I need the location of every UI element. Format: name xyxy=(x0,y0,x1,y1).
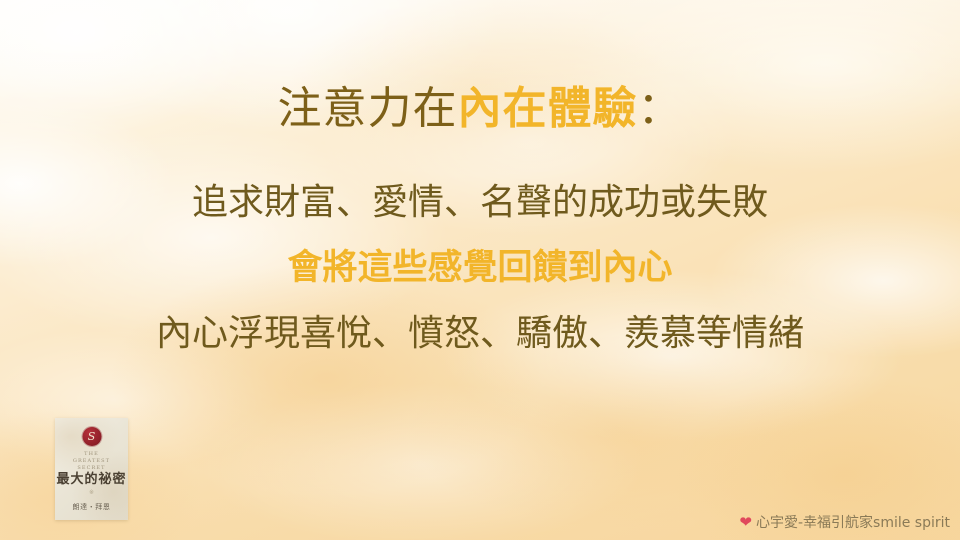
slide-title: 注意力在內在體驗： xyxy=(278,82,683,136)
book-chinese-title: 最大的祕密 xyxy=(55,468,128,487)
book-ornament-mark: ※ xyxy=(55,489,128,496)
slide-title-lead: 注意力在 xyxy=(278,83,458,134)
book-english-line-1: THE xyxy=(55,451,128,458)
slide-body: 追求財富、愛情、名聲的成功或失敗 會將這些感覺回饋到內心 內心浮現喜悅、憤怒、驕… xyxy=(156,180,804,357)
book-english-line-2: GREATEST xyxy=(55,458,128,465)
heart-icon: ❤ xyxy=(739,515,752,530)
watermark-text: 心宇愛-幸福引航家smile spirit xyxy=(756,512,950,532)
slide-title-highlight: 內在體驗 xyxy=(458,83,638,134)
book-cover-thumbnail: S THE GREATEST SECRET 最大的祕密 ※ 朗達‧拜恩 xyxy=(55,418,128,520)
slide-title-colon: ： xyxy=(638,83,683,134)
slide-canvas: 注意力在內在體驗： 追求財富、愛情、名聲的成功或失敗 會將這些感覺回饋到內心 內… xyxy=(0,0,960,540)
book-seal-icon: S xyxy=(82,427,101,446)
slide-content: 注意力在內在體驗： 追求財富、愛情、名聲的成功或失敗 會將這些感覺回饋到內心 內… xyxy=(0,0,960,540)
body-line-1: 追求財富、愛情、名聲的成功或失敗 xyxy=(192,180,768,226)
book-seal-glyph: S xyxy=(82,429,101,444)
body-line-3: 內心浮現喜悅、憤怒、驕傲、羨慕等情緒 xyxy=(156,311,804,357)
body-line-2: 會將這些感覺回饋到內心 xyxy=(287,246,672,291)
book-author: 朗達‧拜恩 xyxy=(55,502,128,512)
watermark: ❤ 心宇愛-幸福引航家smile spirit xyxy=(739,512,950,532)
